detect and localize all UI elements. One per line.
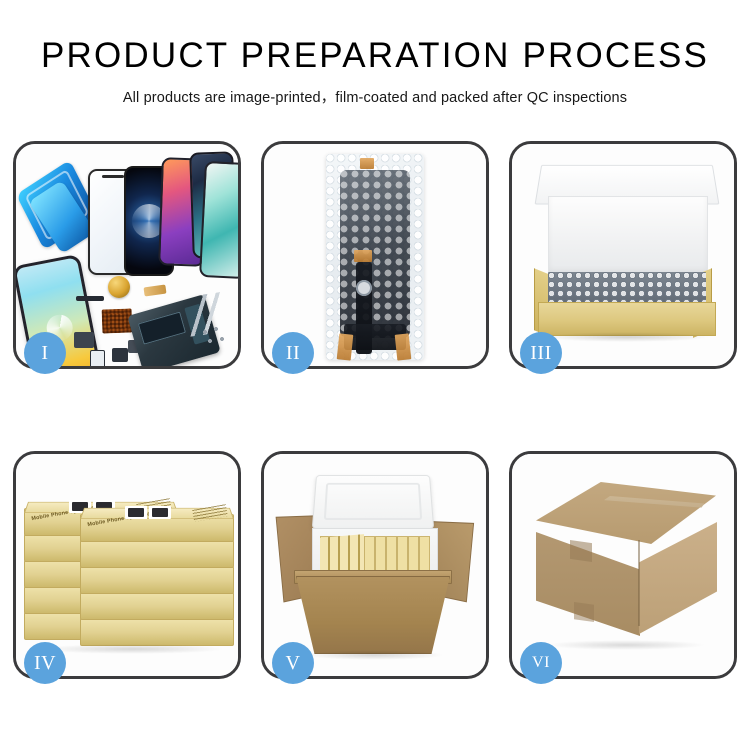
- step-badge-6: VI: [520, 642, 562, 684]
- tape-middle-icon: [354, 250, 372, 262]
- phone-green-icon: [199, 161, 238, 279]
- speaker-part-icon: [108, 276, 130, 298]
- step-badge-5: V: [272, 642, 314, 684]
- box-thumbnail-1: [125, 506, 171, 519]
- stacked-box-front-5: [80, 618, 234, 646]
- step-badge-4: IV: [24, 642, 66, 684]
- connector-icon: [356, 280, 372, 296]
- flex-cable-2-icon: [143, 285, 166, 297]
- small-part-c-icon: [112, 348, 128, 362]
- small-part-a-icon: [74, 332, 94, 348]
- carton-shadow: [304, 650, 444, 660]
- process-step-3[interactable]: III: [509, 141, 737, 369]
- process-step-5[interactable]: V: [261, 451, 489, 679]
- step-badge-1: I: [24, 332, 66, 374]
- step-badge-2: II: [272, 332, 314, 374]
- page-title: PRODUCT PREPARATION PROCESS: [0, 38, 750, 75]
- wrapped-screen-icon: [340, 170, 410, 338]
- bubble-wrap-layer-icon: [548, 272, 706, 304]
- tape-top-icon: [360, 158, 374, 169]
- foam-cooler-lid-icon: [312, 475, 434, 529]
- process-step-1[interactable]: I: [13, 141, 241, 369]
- tape-bottom-right-icon: [395, 333, 412, 360]
- stacked-box-front-3: [80, 566, 234, 594]
- stacked-box-front-1: Mobile Phone Spare Parts: [80, 514, 234, 542]
- stack-shadow: [40, 644, 224, 654]
- carton-body-icon: [296, 576, 450, 654]
- bubble-wrap-bag-icon: [326, 154, 424, 360]
- box-front-panel-icon: [538, 302, 716, 336]
- box-stack-icon: Mobile Phone Spare Parts Mobile Phone Sp…: [24, 474, 236, 662]
- sealed-carton-seam: [638, 540, 640, 626]
- foam-sheet-icon: [548, 196, 708, 274]
- process-step-grid: I II III: [13, 141, 737, 679]
- sealed-carton-top-icon: [536, 482, 716, 544]
- sealed-carton-shadow: [546, 640, 706, 650]
- page-subtitle: All products are image-printed，film-coat…: [0, 86, 750, 107]
- flex-cable-1-icon: [76, 296, 104, 301]
- stacked-box-front-4: [80, 592, 234, 620]
- screws-icon: [200, 326, 228, 348]
- small-part-b-icon: [90, 350, 105, 366]
- box-spec-lines-1: [192, 504, 228, 522]
- page-header: PRODUCT PREPARATION PROCESS All products…: [0, 0, 750, 107]
- sealed-carton-tab-bottom-icon: [574, 602, 594, 622]
- process-step-4[interactable]: Mobile Phone Spare Parts Mobile Phone Sp…: [13, 451, 241, 679]
- tape-bottom-left-icon: [337, 333, 354, 360]
- process-step-6[interactable]: VI: [509, 451, 737, 679]
- process-step-2[interactable]: II: [261, 141, 489, 369]
- step-badge-3: III: [520, 332, 562, 374]
- sealed-carton-tab-top-icon: [570, 540, 592, 562]
- box-shadow: [542, 332, 710, 342]
- stacked-box-front-2: [80, 540, 234, 568]
